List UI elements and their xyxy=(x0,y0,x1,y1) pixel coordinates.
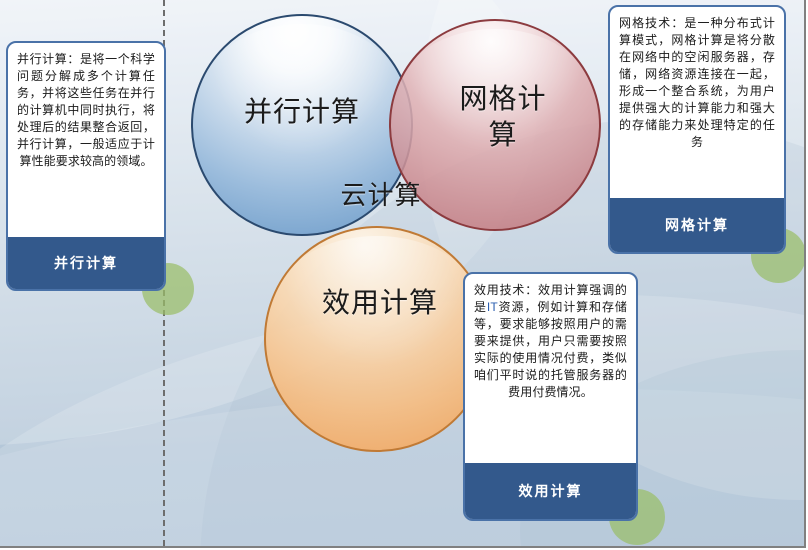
parallel-computing-circle-label: 并行计算 xyxy=(196,94,408,130)
parallel-computing-callout-body: 并行计算：是将一个科学问题分解成多个计算任务，并将这些任务在并行的计算机中同时执… xyxy=(8,43,164,237)
cloud-computing-center-label: 云计算 xyxy=(318,180,444,213)
grid-computing-callout-title[interactable]: 网格计算 xyxy=(610,198,784,252)
slide-background: 并行计算 网格计 算 效用计算 云计算 并行计算：是将一个科学问题分解成多个计算… xyxy=(0,0,806,548)
utility-callout-text-post: 资源，例如计算和存储等，要求能够按照用户的需要来提供，用户只需要按照实际的使用情… xyxy=(474,300,627,399)
parallel-computing-callout-title[interactable]: 并行计算 xyxy=(8,237,164,289)
grid-computing-callout[interactable]: 网格技术：是一种分布式计算模式，网格计算是将分散在网络中的空闲服务器，存储，网络… xyxy=(608,5,786,254)
utility-computing-callout-body: 效用技术：效用计算强调的是IT资源，例如计算和存储等，要求能够按照用户的需要来提… xyxy=(465,274,636,463)
utility-callout-text-highlight: IT xyxy=(487,300,498,314)
utility-computing-circle-label: 效用计算 xyxy=(277,285,483,321)
parallel-computing-callout[interactable]: 并行计算：是将一个科学问题分解成多个计算任务，并将这些任务在并行的计算机中同时执… xyxy=(6,41,166,291)
grid-computing-circle-label: 网格计 算 xyxy=(447,81,559,153)
grid-computing-callout-body: 网格技术：是一种分布式计算模式，网格计算是将分散在网络中的空闲服务器，存储，网络… xyxy=(610,7,784,198)
slide-canvas: 并行计算 网格计 算 效用计算 云计算 并行计算：是将一个科学问题分解成多个计算… xyxy=(0,0,808,550)
utility-computing-callout-title[interactable]: 效用计算 xyxy=(465,463,636,519)
utility-computing-circle[interactable] xyxy=(264,226,490,452)
utility-computing-callout[interactable]: 效用技术：效用计算强调的是IT资源，例如计算和存储等，要求能够按照用户的需要来提… xyxy=(463,272,638,521)
